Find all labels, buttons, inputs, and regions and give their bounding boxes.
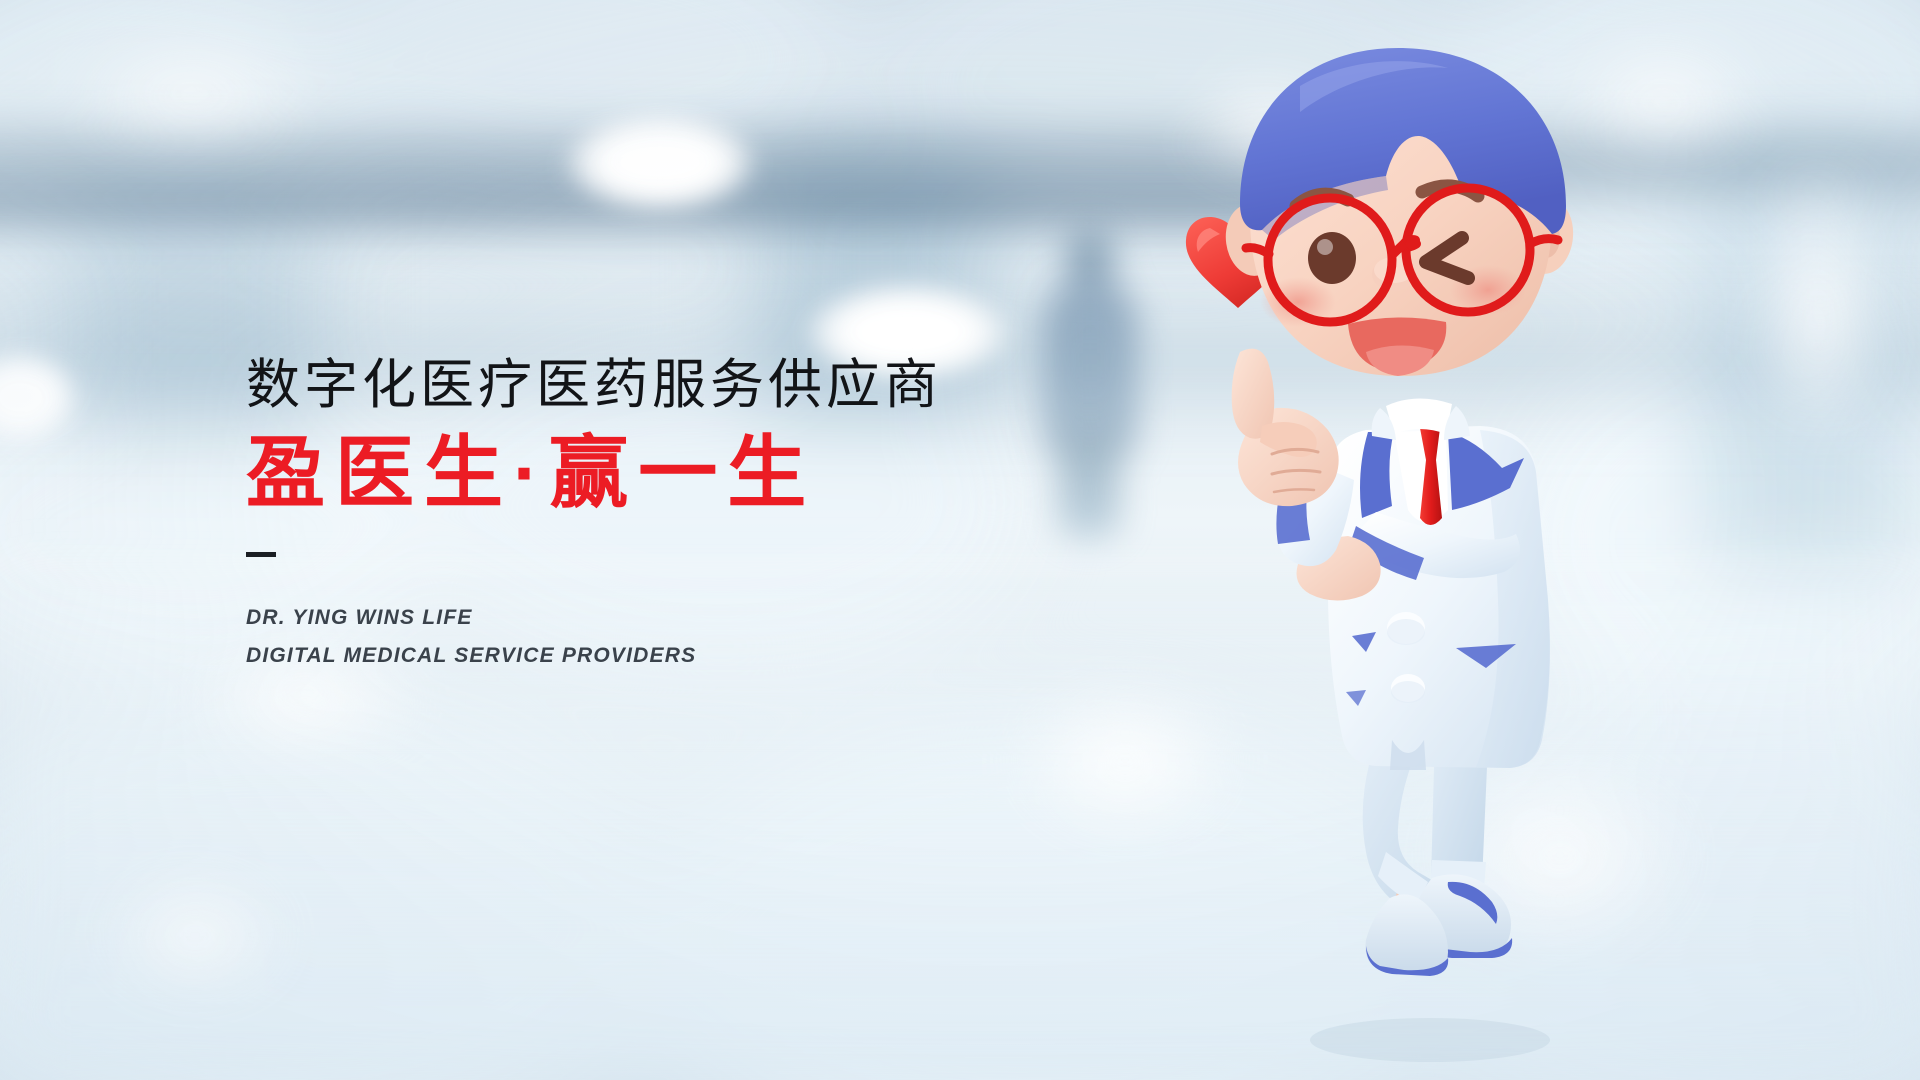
finger-heart-hand [1232,349,1339,506]
mascot-lab-coat [1328,426,1550,770]
coat-lapel-left [1360,432,1394,518]
eye-open [1308,232,1356,284]
subtitle-line-1: DR. YING WINS LIFE [246,599,942,636]
hero-copy-block: 数字化医疗医药服务供应商 盈医生·赢一生 DR. YING WINS LIFE … [246,356,942,674]
subtitle-group: DR. YING WINS LIFE DIGITAL MEDICAL SERVI… [246,599,942,674]
mascot-ground-shadow [1310,1018,1550,1062]
hero-banner: 数字化医疗医药服务供应商 盈医生·赢一生 DR. YING WINS LIFE … [0,0,1920,1080]
doctor-mascot [1180,40,1640,1080]
temple-right [1530,239,1558,244]
page-headline: 数字化医疗医药服务供应商 [246,356,942,414]
page-tagline: 盈医生·赢一生 [246,432,942,514]
mascot-head [1221,48,1577,376]
divider-rule [246,552,276,557]
subtitle-line-2: DIGITAL MEDICAL SERVICE PROVIDERS [246,637,942,674]
